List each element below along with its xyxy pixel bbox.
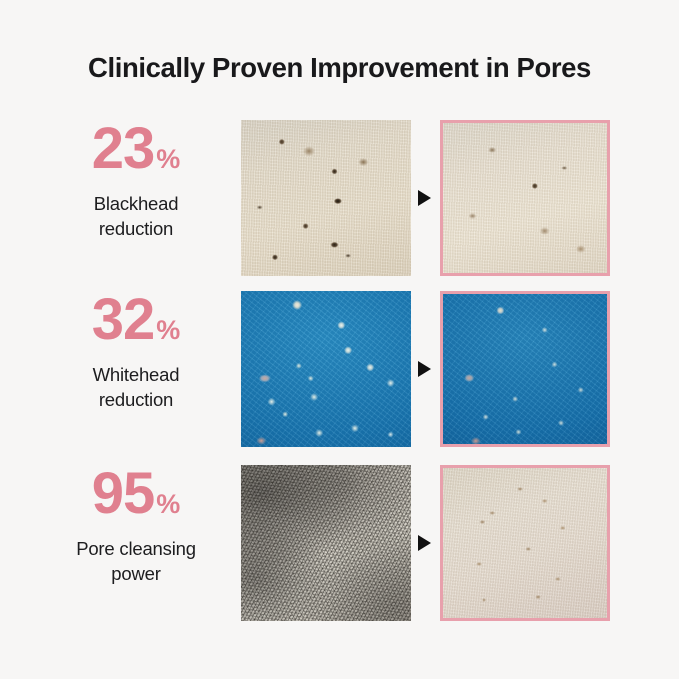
stat-percent-symbol: % (156, 146, 180, 173)
stat-value-group: 32 % (40, 291, 232, 349)
stat-row-whitehead: 32 % Whitehead reduction (0, 291, 679, 463)
play-triangle-right-icon (418, 535, 431, 551)
skin-texture-before (241, 120, 411, 276)
stat-block-blackhead: 23 % Blackhead reduction (40, 120, 232, 242)
stat-value: 32 (92, 291, 155, 349)
stat-block-pore-cleansing: 95 % Pore cleansing power (40, 465, 232, 587)
page-title: Clinically Proven Improvement in Pores (0, 52, 679, 84)
stat-row-pore-cleansing: 95 % Pore cleansing power (0, 465, 679, 637)
stat-label: Whitehead reduction (40, 363, 232, 413)
after-image-pore-cleansing (440, 465, 610, 621)
before-image-whitehead (241, 291, 411, 447)
before-image-pore-cleansing (241, 465, 411, 621)
stat-value: 23 (92, 120, 155, 178)
stat-label-line1: Whitehead (93, 364, 180, 385)
stat-label-line2: power (40, 562, 232, 587)
stat-label: Pore cleansing power (40, 537, 232, 587)
play-triangle-right-icon (418, 361, 431, 377)
play-triangle-right-icon (418, 190, 431, 206)
stat-label: Blackhead reduction (40, 192, 232, 242)
stat-label-line2: reduction (40, 388, 232, 413)
stat-percent-symbol: % (156, 317, 180, 344)
stat-label-line1: Pore cleansing (76, 538, 196, 559)
stat-value: 95 (92, 465, 155, 523)
skin-texture-after (443, 123, 607, 273)
stat-percent-symbol: % (156, 491, 180, 518)
stat-block-whitehead: 32 % Whitehead reduction (40, 291, 232, 413)
before-image-blackhead (241, 120, 411, 276)
stat-value-group: 95 % (40, 465, 232, 523)
infographic-root: Clinically Proven Improvement in Pores 2… (0, 0, 679, 679)
after-image-blackhead (440, 120, 610, 276)
stat-label-line2: reduction (40, 217, 232, 242)
stat-label-line1: Blackhead (94, 193, 179, 214)
skin-texture-before (241, 465, 411, 621)
stat-row-blackhead: 23 % Blackhead reduction (0, 120, 679, 292)
stat-value-group: 23 % (40, 120, 232, 178)
after-image-whitehead (440, 291, 610, 447)
skin-texture-after (443, 468, 607, 618)
skin-texture-after (443, 294, 607, 444)
skin-texture-before (241, 291, 411, 447)
